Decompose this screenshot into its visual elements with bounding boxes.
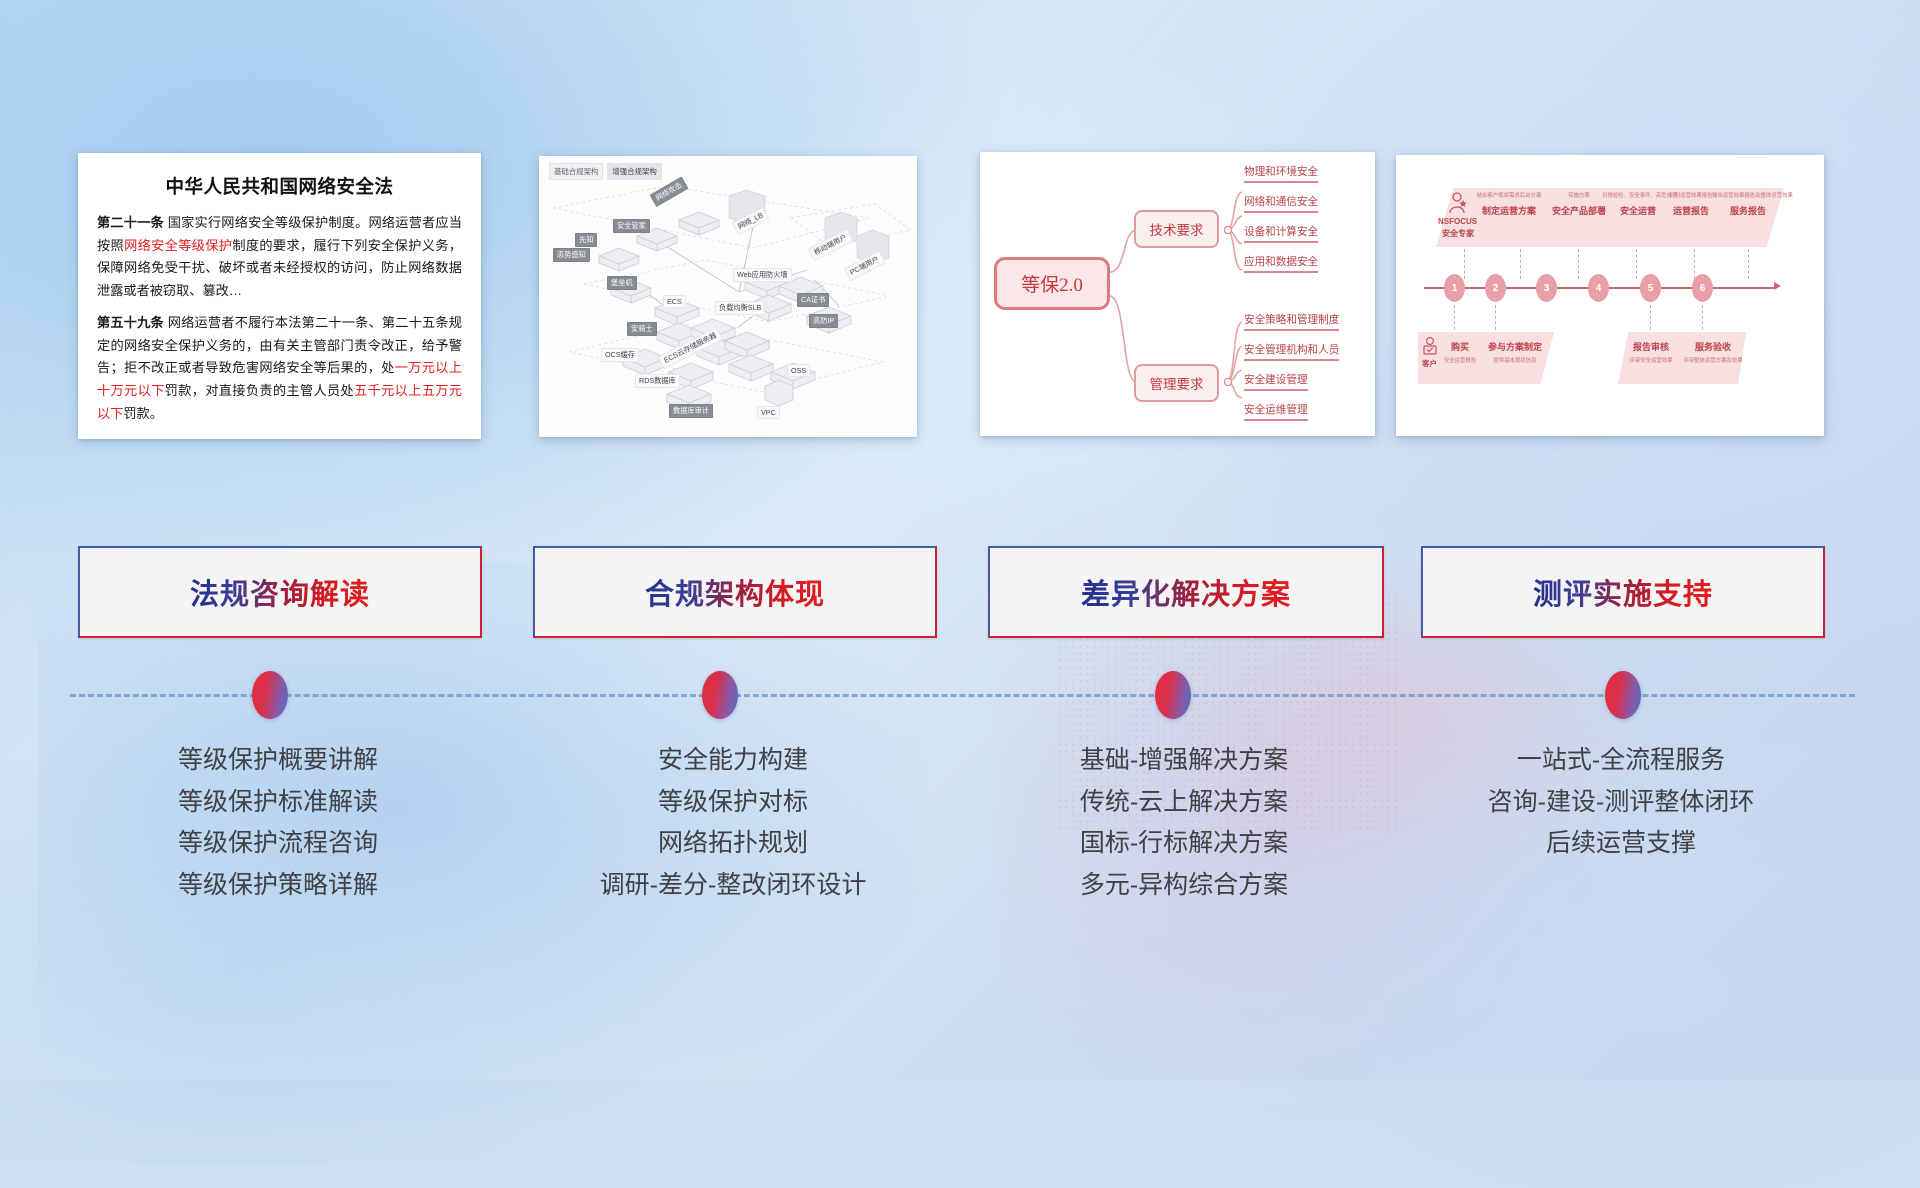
connector-step-5: [1694, 249, 1695, 279]
article-21-label: 第二十一条: [97, 215, 164, 230]
node-vpc: VPC: [757, 406, 780, 419]
bottom-step-2-caption: 提供基本现状信息: [1480, 359, 1550, 365]
list-item: 等级保护概要讲解: [78, 740, 478, 782]
mindmap-leaf-physical-env[interactable]: 物理和环境安全: [1244, 164, 1318, 183]
timeline-node-5[interactable]: 5: [1640, 274, 1661, 302]
mindmap-leaf-construction[interactable]: 安全建设管理: [1244, 372, 1308, 391]
label-box-2-text: 合规架构体现: [645, 571, 825, 613]
mindmap-branch-management[interactable]: 管理要求: [1134, 364, 1219, 402]
timeline-dashed-line: [70, 694, 1855, 697]
expert-avatar-icon: [1446, 191, 1468, 215]
top-step-1-title: 制定运营方案: [1472, 204, 1546, 217]
label-box-row: 法规咨询解读 合规架构体现 差异化解决方案 测评实施支持: [0, 546, 1920, 646]
list-item: 后续运营支撑: [1421, 823, 1821, 865]
list-item: 国标-行标解决方案: [988, 823, 1380, 865]
list-item: 多元-异构综合方案: [988, 865, 1380, 907]
label-box-1-text: 法规咨询解读: [190, 571, 370, 613]
node-ocs-cache: OCS缓存: [601, 348, 639, 362]
timeline-node-6[interactable]: 6: [1692, 274, 1713, 302]
connector-step-1: [1464, 249, 1465, 279]
mindmap-branch-technical[interactable]: 技术要求: [1134, 210, 1219, 248]
collapse-toggle-technical: [1224, 226, 1231, 233]
node-anti-ddos-ip: 高防IP: [809, 314, 838, 328]
collapse-toggle-management: [1224, 378, 1231, 385]
top-step-1-caption: 结合客户现状需求后台分离: [1472, 194, 1546, 200]
connector-bottom-4: [1702, 305, 1703, 335]
bottom-step-1-title: 购买: [1440, 340, 1480, 353]
detail-column-3: 基础-增强解决方案 传统-云上解决方案 国标-行标解决方案 多元-异构综合方案: [988, 740, 1380, 906]
article-59-label: 第五十九条: [97, 315, 164, 330]
customer-avatar-icon: [1421, 336, 1439, 356]
timeline-bottom-step-3[interactable]: 报告审核 评审安全运营效果: [1624, 340, 1678, 365]
node-ecs: ECS: [663, 295, 686, 308]
law-title: 中华人民共和国网络安全法: [97, 173, 462, 199]
law-body: 中华人民共和国网络安全法 第二十一条 国家实行网络安全等级保护制度。网络运营者应…: [78, 153, 481, 439]
timeline-marker-4[interactable]: [1605, 671, 1641, 719]
list-item: 传统-云上解决方案: [988, 782, 1380, 824]
bottom-step-4-caption: 评审整体运营方案及效果: [1682, 359, 1744, 365]
list-item: 安全能力构建: [533, 740, 933, 782]
label-box-assessment-support[interactable]: 测评实施支持: [1421, 546, 1825, 638]
connector-bottom-3: [1650, 305, 1651, 335]
bottom-step-2-title: 参与方案制定: [1480, 340, 1550, 353]
list-item: 基础-增强解决方案: [988, 740, 1380, 782]
bottom-step-3-caption: 评审安全运营效果: [1624, 359, 1678, 365]
node-situational-awareness: 态势感知: [553, 248, 590, 262]
label-box-differentiated-solution[interactable]: 差异化解决方案: [988, 546, 1384, 638]
article-59-text-b: 罚款，对直接负责的主管人员处: [165, 383, 354, 398]
detail-column-4: 一站式-全流程服务 咨询-建设-测评整体闭环 后续运营支撑: [1421, 740, 1821, 865]
list-item: 等级保护对标: [533, 782, 933, 824]
node-slb: 负载均衡SLB: [715, 301, 765, 315]
timeline-strip: [0, 660, 1920, 730]
timeline-marker-1[interactable]: [252, 671, 288, 719]
node-anqishi: 安骑士: [627, 322, 657, 336]
label-box-4-text: 测评实施支持: [1533, 571, 1713, 613]
node-security-butler: 安全管家: [613, 219, 650, 233]
timeline-node-4[interactable]: 4: [1588, 274, 1609, 302]
connector-step-3: [1578, 249, 1579, 279]
card-architecture-diagram[interactable]: 基础合规架构 增强合规架构: [539, 156, 917, 437]
mindmap-leaf-org-personnel[interactable]: 安全管理机构和人员: [1244, 342, 1339, 361]
card-law-text[interactable]: 中华人民共和国网络安全法 第二十一条 国家实行网络安全等级保护制度。网络运营者应…: [78, 153, 481, 439]
expert-label-line2: 安全专家: [1442, 228, 1474, 239]
timeline-node-3[interactable]: 3: [1536, 274, 1557, 302]
detail-column-2: 安全能力构建 等级保护对标 网络拓扑规划 调研-差分-整改闭环设计: [533, 740, 933, 906]
mindmap-root[interactable]: 等保2.0: [994, 257, 1110, 310]
connector-step-2: [1520, 249, 1521, 279]
timeline-top-step-1[interactable]: 结合客户现状需求后台分离 制定运营方案: [1472, 194, 1546, 217]
top-step-5-title: 服务报告: [1712, 204, 1784, 217]
timeline-bottom-step-4[interactable]: 服务验收 评审整体运营方案及效果: [1682, 340, 1744, 365]
list-item: 等级保护策略详解: [78, 865, 478, 907]
law-article-21: 第二十一条 国家实行网络安全等级保护制度。网络运营者应当按照网络安全等级保护制度…: [97, 212, 462, 303]
card-service-timeline[interactable]: NSFOCUS 安全专家 结合客户现状需求后台分离 制定运营方案 实施方案 安全…: [1396, 155, 1824, 436]
architecture-canvas: 基础合规架构 增强合规架构: [539, 156, 917, 437]
connector-bottom-1: [1454, 305, 1455, 335]
node-bastion-host: 堡垒机: [607, 276, 637, 290]
timeline-marker-3[interactable]: [1155, 671, 1191, 719]
bottom-step-3-title: 报告审核: [1624, 340, 1678, 353]
label-box-compliance-architecture[interactable]: 合规架构体现: [533, 546, 937, 638]
list-item: 调研-差分-整改闭环设计: [533, 865, 933, 907]
node-rds-database: RDS数据库: [635, 374, 680, 388]
timeline-marker-2[interactable]: [702, 671, 738, 719]
timeline-node-2[interactable]: 2: [1485, 274, 1506, 302]
connector-step-6: [1748, 249, 1749, 279]
bottom-step-1-caption: 安全运营报告: [1440, 359, 1480, 365]
list-item: 咨询-建设-测评整体闭环: [1421, 782, 1821, 824]
timeline-bottom-step-1[interactable]: 购买 安全运营报告: [1440, 340, 1480, 365]
law-article-59: 第五十九条 网络运营者不履行本法第二十一条、第二十五条规定的网络安全保护义务的，…: [97, 312, 462, 426]
list-item: 一站式-全流程服务: [1421, 740, 1821, 782]
article-59-text-c: 罚款。: [123, 406, 163, 421]
bottom-step-4-title: 服务验收: [1682, 340, 1744, 353]
architecture-connector-lines: [539, 156, 917, 437]
expert-label-line1: NSFOCUS: [1438, 217, 1477, 226]
connector-bottom-2: [1495, 305, 1496, 335]
timeline-arrow-icon: [1774, 282, 1781, 290]
timeline-top-step-5[interactable]: 输出运营效果报告及整体运营效果 服务报告: [1712, 194, 1784, 217]
node-waf: Web应用防火墙: [733, 268, 792, 282]
list-item: 等级保护标准解读: [78, 782, 478, 824]
detail-column-1: 等级保护概要讲解 等级保护标准解读 等级保护流程咨询 等级保护策略详解: [78, 740, 478, 906]
label-box-regulation-consulting[interactable]: 法规咨询解读: [78, 546, 482, 638]
node-oss: OSS: [787, 364, 810, 377]
label-box-3-text: 差异化解决方案: [1081, 571, 1291, 613]
mindmap-leaf-operations[interactable]: 安全运维管理: [1244, 402, 1308, 421]
card-mindmap[interactable]: 等保2.0 技术要求 管理要求 物理和环境安全 网络和通信安全 设备和计算安全 …: [980, 152, 1375, 436]
timeline-node-1[interactable]: 1: [1444, 274, 1465, 302]
customer-label: 客户: [1422, 358, 1437, 369]
mindmap-leaf-policy-system[interactable]: 安全策略和管理制度: [1244, 312, 1339, 331]
mindmap-leaf-device-compute[interactable]: 设备和计算安全: [1244, 224, 1318, 243]
node-ca-certificate: CA证书: [797, 293, 829, 307]
card-row: 中华人民共和国网络安全法 第二十一条 国家实行网络安全等级保护制度。网络运营者应…: [0, 0, 1920, 460]
node-database-audit: 数据库审计: [669, 404, 713, 418]
timeline-bottom-step-2[interactable]: 参与方案制定 提供基本现状信息: [1480, 340, 1550, 365]
mindmap-leaf-network-comm[interactable]: 网络和通信安全: [1244, 194, 1318, 213]
top-step-5-caption: 输出运营效果报告及整体运营效果: [1712, 194, 1784, 200]
connector-step-4: [1636, 249, 1637, 279]
service-timeline-canvas: NSFOCUS 安全专家 结合客户现状需求后台分离 制定运营方案 实施方案 安全…: [1396, 155, 1824, 436]
node-xianzhi: 先知: [575, 233, 597, 247]
detail-list-row: 等级保护概要讲解 等级保护标准解读 等级保护流程咨询 等级保护策略详解 安全能力…: [0, 740, 1920, 960]
mindmap-leaf-app-data[interactable]: 应用和数据安全: [1244, 254, 1318, 273]
list-item: 等级保护流程咨询: [78, 823, 478, 865]
article-21-highlight: 网络安全等级保护: [124, 238, 232, 253]
list-item: 网络拓扑规划: [533, 823, 933, 865]
mindmap-canvas: 等保2.0 技术要求 管理要求 物理和环境安全 网络和通信安全 设备和计算安全 …: [980, 152, 1375, 436]
